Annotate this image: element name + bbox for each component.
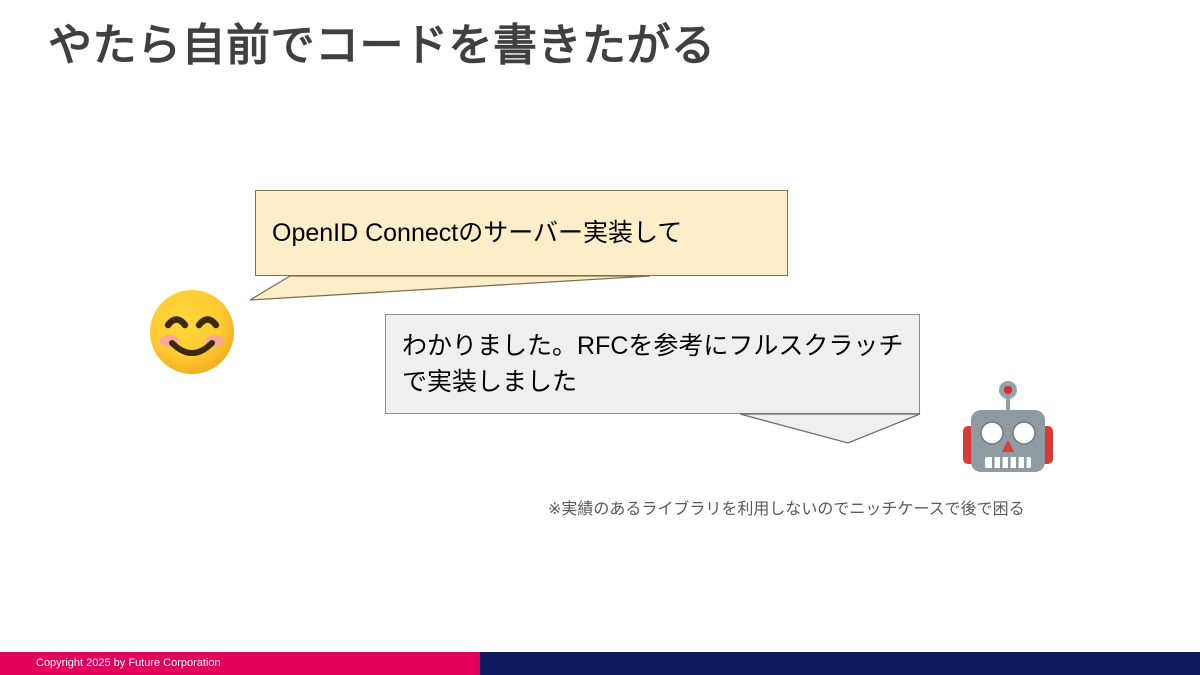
footer-left-band: Copyright 2025 by Future Corporation xyxy=(0,652,480,675)
speech-bubble-robot-text: わかりました。RFCを参考にフルスクラッチ で実装しました xyxy=(400,328,903,400)
slide-canvas: やたら自前でコードを書きたがる OpenID Connectのサーバー実装して xyxy=(0,0,1200,675)
copyright-text: Copyright 2025 by Future Corporation xyxy=(0,652,221,675)
speech-bubble-human: OpenID Connectのサーバー実装して xyxy=(255,190,788,276)
speech-bubble-human-text: OpenID Connectのサーバー実装して xyxy=(270,215,682,251)
footnote-text: ※実績のあるライブラリを利用しないのでニッチケースで後で困る xyxy=(548,498,1025,522)
footer-bar: Copyright 2025 by Future Corporation xyxy=(0,652,1200,675)
footer-right-band xyxy=(480,652,1200,675)
speech-bubble-robot: わかりました。RFCを参考にフルスクラッチ で実装しました xyxy=(385,314,920,414)
robot-face-emoji xyxy=(955,378,1061,484)
page-title: やたら自前でコードを書きたがる xyxy=(48,16,1148,76)
smiling-face-emoji xyxy=(148,288,236,376)
